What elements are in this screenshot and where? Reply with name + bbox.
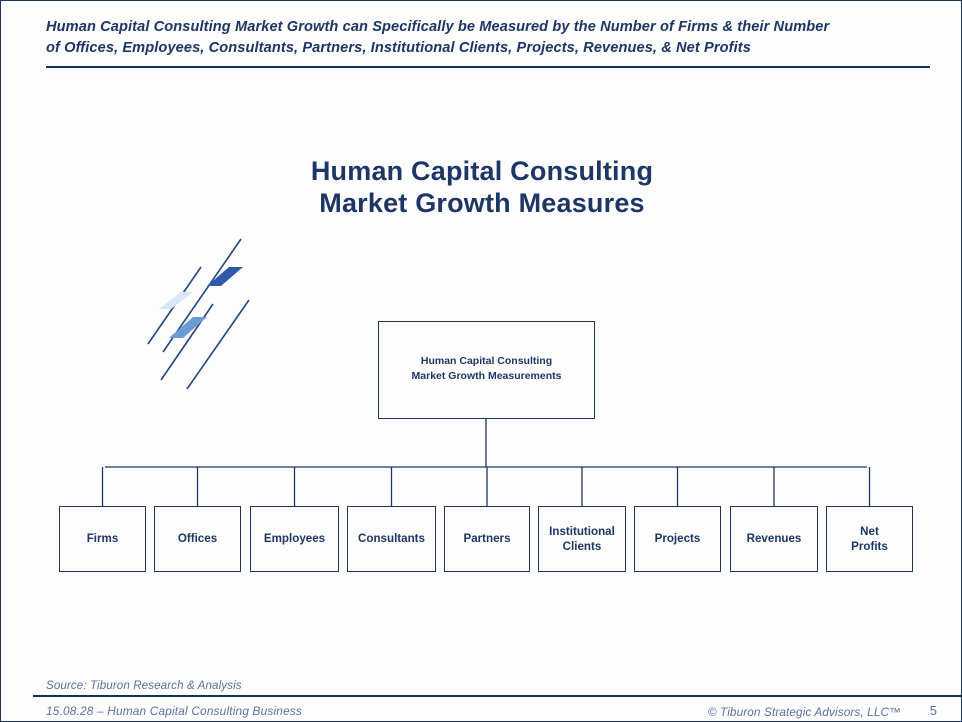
- node-leaf-label: Projects: [655, 531, 701, 546]
- node-leaf-label: Firms: [87, 531, 119, 546]
- node-root[interactable]: Human Capital Consulting Market Growth M…: [378, 321, 595, 419]
- header-title: Human Capital Consulting Market Growth c…: [46, 17, 930, 58]
- node-leaf-label: Consultants: [358, 531, 425, 546]
- node-leaf[interactable]: Institutional Clients: [538, 506, 626, 572]
- footer-date: 15.08.28 – Human Capital Consulting Busi…: [46, 704, 302, 718]
- node-leaf-label: Net Profits: [851, 524, 888, 554]
- node-leaf-label: Partners: [463, 531, 510, 546]
- slide-canvas: Human Capital Consulting Market Growth c…: [0, 0, 962, 722]
- header: Human Capital Consulting Market Growth c…: [46, 17, 930, 58]
- node-leaf[interactable]: Consultants: [347, 506, 436, 572]
- logo-shape-medium: [169, 317, 207, 338]
- logo-shape-pale: [159, 292, 193, 309]
- node-leaf[interactable]: Partners: [444, 506, 530, 572]
- footer-copyright: © Tiburon Strategic Advisors, LLC™: [708, 705, 901, 719]
- node-leaf-label: Offices: [178, 531, 217, 546]
- node-root-label: Human Capital Consulting Market Growth M…: [412, 354, 562, 384]
- node-leaf[interactable]: Firms: [59, 506, 146, 572]
- page-number: 5: [930, 703, 937, 718]
- node-leaf-label: Revenues: [747, 531, 802, 546]
- page-title: Human Capital Consulting Market Growth M…: [1, 156, 962, 220]
- footer-divider: [33, 695, 962, 697]
- tiburon-diagonal-mark-icon: [141, 234, 253, 396]
- node-leaf-label: Institutional Clients: [549, 524, 615, 554]
- node-leaf-label: Employees: [264, 531, 325, 546]
- node-leaf[interactable]: Employees: [250, 506, 339, 572]
- node-leaf[interactable]: Net Profits: [826, 506, 913, 572]
- logo-shape-dark: [207, 267, 243, 286]
- node-leaf[interactable]: Offices: [154, 506, 241, 572]
- node-leaf[interactable]: Projects: [634, 506, 721, 572]
- node-leaf[interactable]: Revenues: [730, 506, 818, 572]
- source-note: Source: Tiburon Research & Analysis: [46, 679, 242, 692]
- header-divider: [46, 66, 930, 68]
